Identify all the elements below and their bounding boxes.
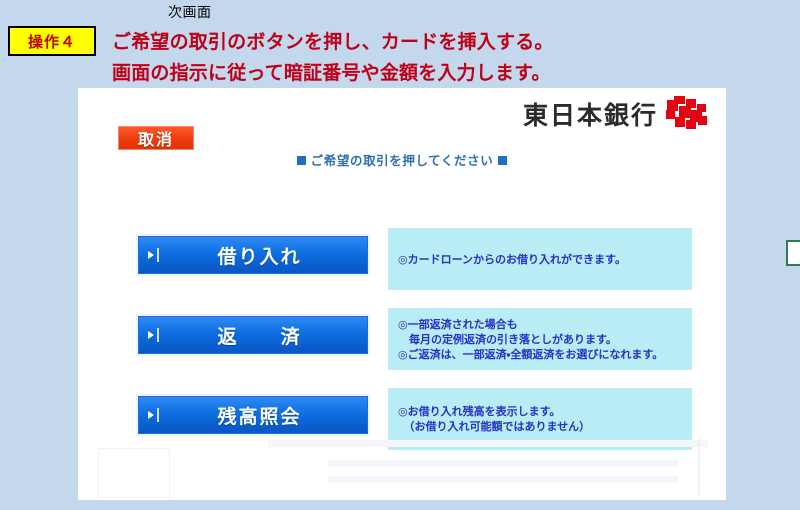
play-arrow-icon bbox=[148, 328, 174, 342]
square-bullet-left-icon bbox=[297, 156, 306, 165]
play-arrow-icon bbox=[148, 248, 174, 262]
description-line: ◎一部返済された場合も bbox=[398, 317, 682, 332]
step-badge: 操作４ bbox=[8, 26, 96, 56]
bank-name: 東日本銀行 bbox=[523, 96, 658, 132]
description-line: 毎月の定例返済の引き落としがあります。 bbox=[398, 332, 682, 347]
transaction-row: 借り入れ ◎カードローンからのお借り入れができます。 bbox=[78, 228, 726, 292]
atm-screen: 東日本銀行 取消 ご希望の取引を押してください 借り入れ ◎カードローンからのお… bbox=[78, 88, 726, 500]
play-arrow-icon bbox=[148, 408, 174, 422]
background-artifact bbox=[698, 438, 700, 496]
description-line: ◎カードローンからのお借り入れができます。 bbox=[398, 252, 682, 267]
transaction-button-label: 返 済 bbox=[174, 322, 367, 349]
transaction-description-borrow: ◎カードローンからのお借り入れができます。 bbox=[388, 228, 692, 290]
slide-canvas: 次画面 操作４ ご希望の取引のボタンを押し、カードを挿入する。 画面の指示に従っ… bbox=[0, 0, 800, 510]
transaction-button-label: 借り入れ bbox=[174, 242, 367, 269]
transaction-prompt-text: ご希望の取引を押してください bbox=[311, 153, 494, 168]
bank-logo: 東日本銀行 bbox=[523, 96, 708, 132]
headline-line-1: ご希望の取引のボタンを押し、カードを挿入する。 bbox=[112, 27, 554, 54]
transaction-button-repay[interactable]: 返 済 bbox=[138, 316, 368, 354]
background-artifact bbox=[328, 460, 678, 467]
transaction-prompt: ご希望の取引を押してください bbox=[78, 150, 726, 169]
square-bullet-right-icon bbox=[498, 156, 507, 165]
description-line: ◎ご返済は、一部返済・全額返済をお選びになれます。 bbox=[398, 347, 682, 362]
transaction-description-repay: ◎一部返済された場合も 毎月の定例返済の引き落としがあります。 ◎ご返済は、一部… bbox=[388, 308, 692, 370]
headline-line-2: 画面の指示に従って暗証番号や金額を入力します。 bbox=[112, 58, 551, 85]
transaction-button-borrow[interactable]: 借り入れ bbox=[138, 236, 368, 274]
transaction-button-label: 残高照会 bbox=[174, 402, 367, 429]
background-artifact bbox=[268, 440, 708, 447]
transaction-row: 返 済 ◎一部返済された場合も 毎月の定例返済の引き落としがあります。 ◎ご返済… bbox=[78, 308, 726, 372]
background-artifact bbox=[328, 476, 678, 483]
cancel-button[interactable]: 取消 bbox=[118, 126, 194, 150]
bank-logo-mark-icon bbox=[666, 96, 708, 132]
description-line: （お借り入れ可能額ではありません） bbox=[398, 419, 682, 434]
next-screen-label: 次画面 bbox=[168, 2, 212, 22]
transaction-button-balance-inquiry[interactable]: 残高照会 bbox=[138, 396, 368, 434]
description-line: ◎お借り入れ残高を表示します。 bbox=[398, 404, 682, 419]
clipped-edge-box bbox=[786, 240, 800, 266]
background-artifact bbox=[98, 448, 170, 498]
